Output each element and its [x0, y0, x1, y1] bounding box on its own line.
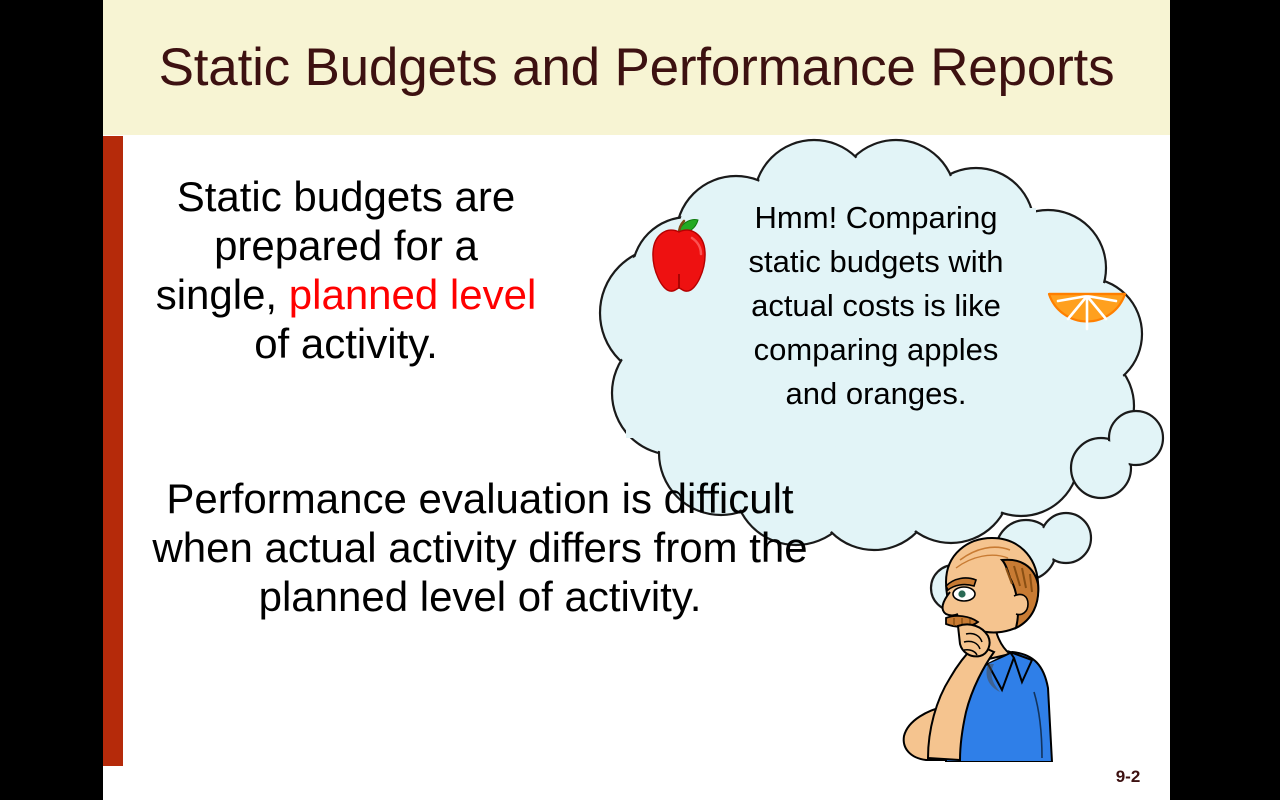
slide-title-bar: Static Budgets and Performance Reports [103, 0, 1170, 135]
bubble-line-1: static budgets with [748, 244, 1003, 279]
slide-canvas: Static Budgets and Performance Reports [0, 0, 1280, 800]
thinking-man-figure [884, 530, 1104, 762]
orange-slice-icon [1046, 288, 1128, 338]
left-accent-bar [103, 136, 123, 766]
body-text-block-2: Performance evaluation is difficult when… [150, 474, 810, 621]
bubble-line-2: actual costs is like [751, 288, 1001, 323]
bubble-line-0: Hmm! Comparing [755, 200, 998, 235]
page-title: Static Budgets and Performance Reports [103, 0, 1170, 135]
body-text-block-1: Static budgets are prepared for a single… [150, 172, 542, 368]
text-segment-plain-b: of activity. [254, 320, 438, 367]
page-number: 9-2 [1098, 767, 1158, 787]
text-segment-highlight: planned level [289, 271, 537, 318]
bubble-line-3: comparing apples [754, 332, 999, 367]
apple-icon [648, 212, 710, 296]
bubble-line-4: and oranges. [786, 376, 967, 411]
text-segment-plain-c: Performance evaluation is difficult when… [152, 475, 807, 620]
